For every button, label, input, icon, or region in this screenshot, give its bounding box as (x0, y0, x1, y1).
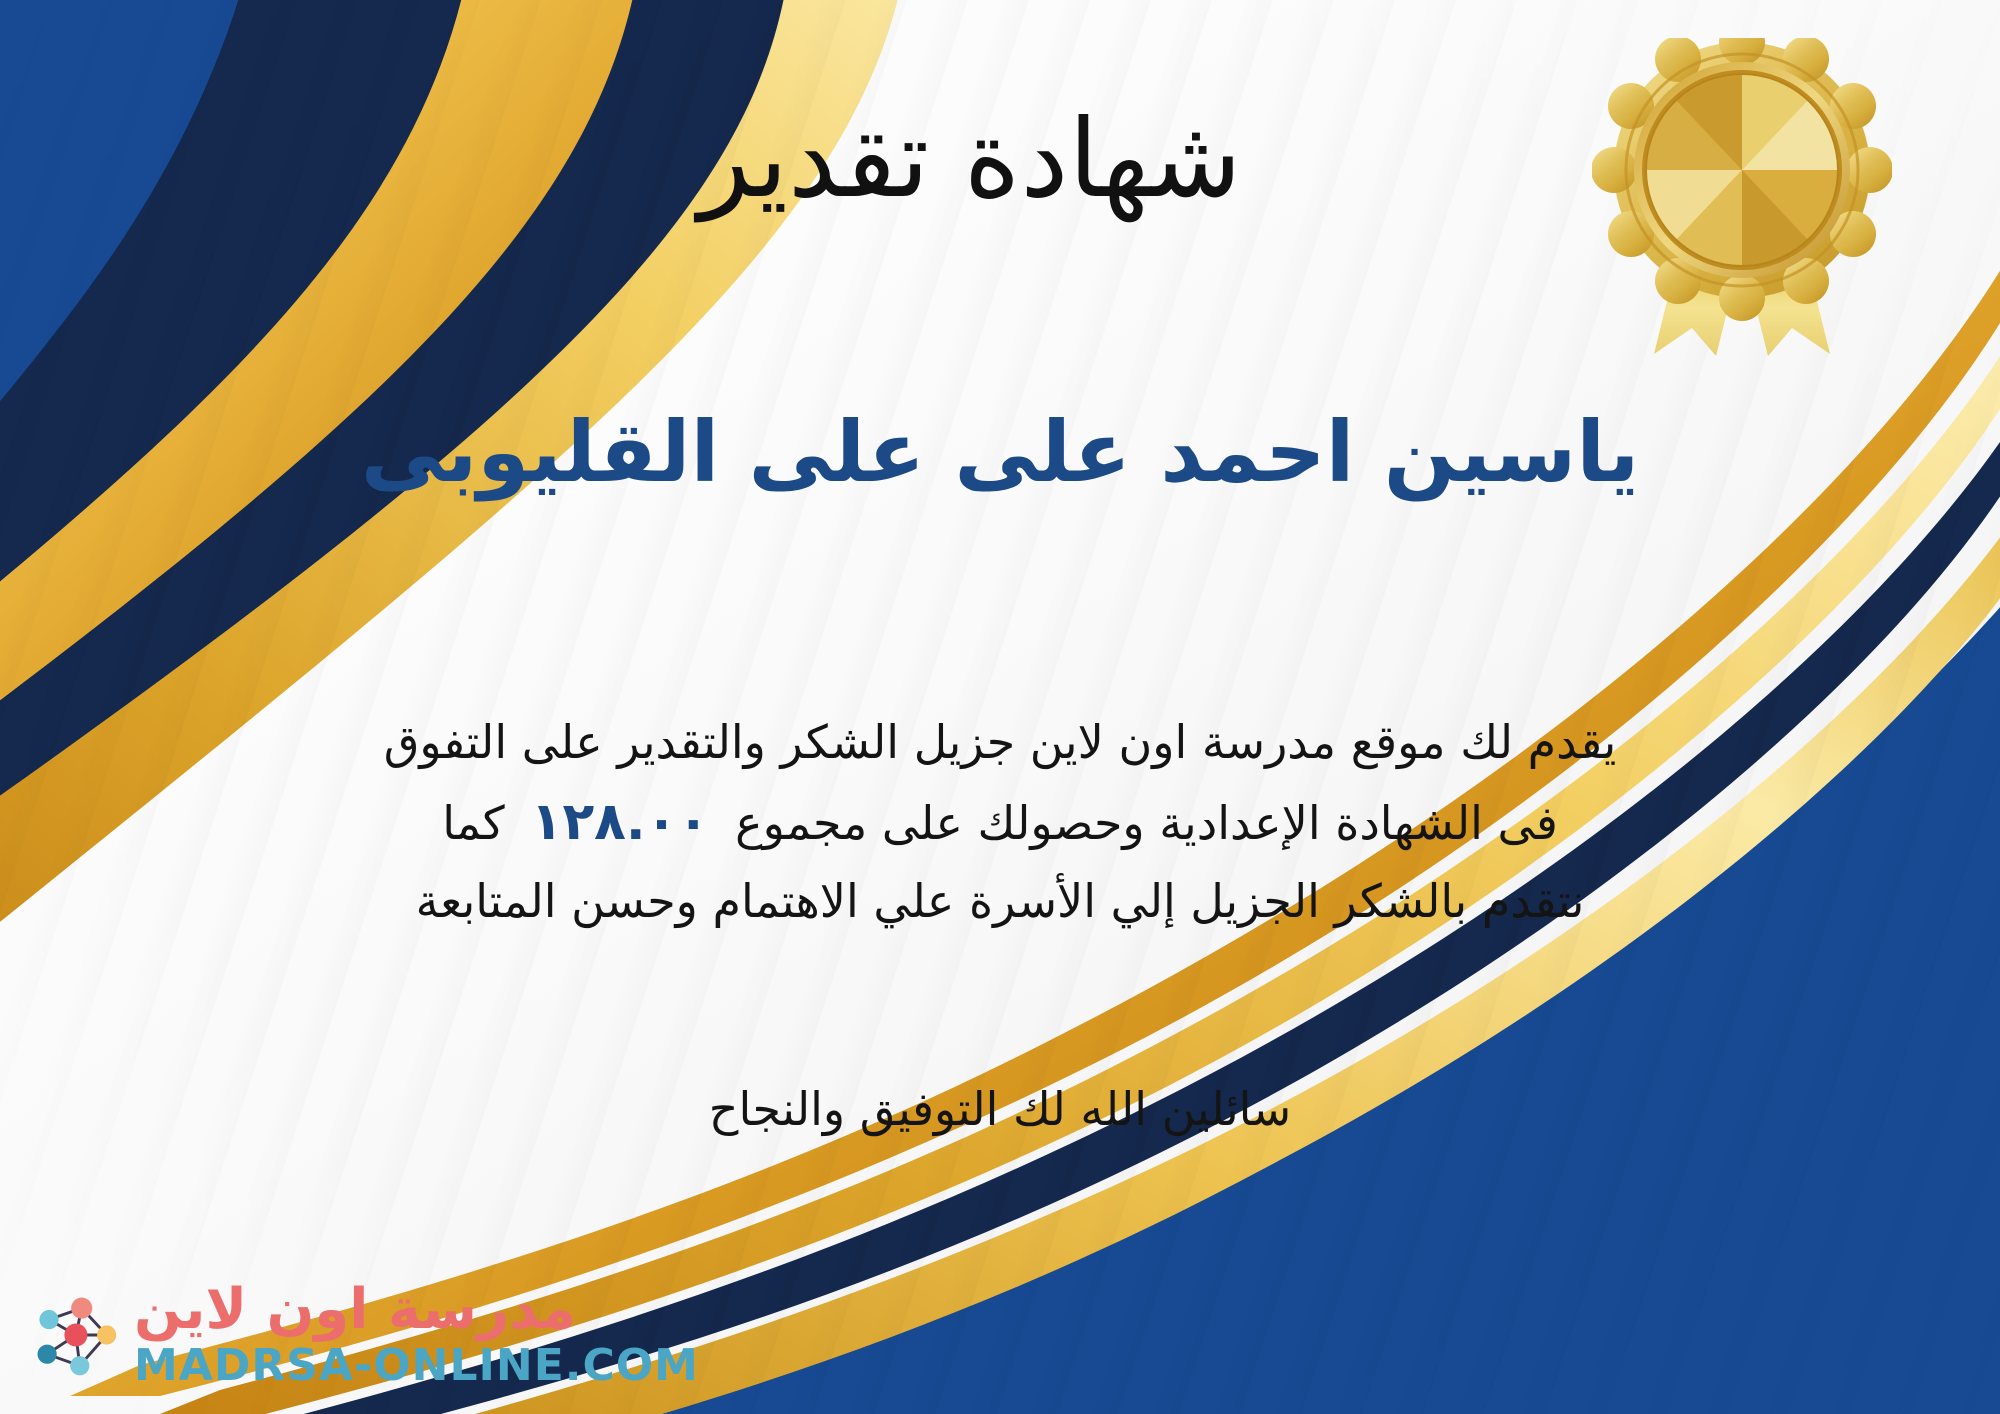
body-line-2: فى الشهادة الإعدادية وحصولك على مجموع١٢٨… (110, 780, 1890, 864)
medal-core (1646, 74, 1838, 266)
gold-medal-seal-icon (1592, 38, 1892, 358)
body-line-1: يقدم لك موقع مدرسة اون لاين جزيل الشكر و… (110, 705, 1890, 780)
brand-logo[interactable]: مدرسة اون لاين MADRSA-ONLINE.COM (26, 1282, 699, 1388)
body-line-2-text: فى الشهادة الإعدادية وحصولك على مجموع (735, 796, 1558, 850)
certificate-body: يقدم لك موقع مدرسة اون لاين جزيل الشكر و… (110, 705, 1890, 938)
closing-line: سائلين الله لك التوفيق والنجاح (0, 1075, 2000, 1144)
score-value: ١٢٨.٠٠ (505, 792, 735, 852)
brand-domain: MADRSA-ONLINE.COM (134, 1344, 699, 1388)
network-nodes-logo-mark-icon (26, 1287, 122, 1383)
brand-name-arabic: مدرسة اون لاين (134, 1282, 576, 1338)
body-line-3: نتقدم بالشكر الجزيل إلي الأسرة علي الاهت… (110, 864, 1890, 939)
body-line-2-suffix: كما (442, 796, 505, 850)
certificate-canvas: شهادة تقدير ياسين احمد على على القليوبى … (0, 0, 2000, 1414)
brand-text: مدرسة اون لاين MADRSA-ONLINE.COM (134, 1282, 699, 1388)
recipient-name: ياسين احمد على على القليوبى (0, 400, 2000, 505)
